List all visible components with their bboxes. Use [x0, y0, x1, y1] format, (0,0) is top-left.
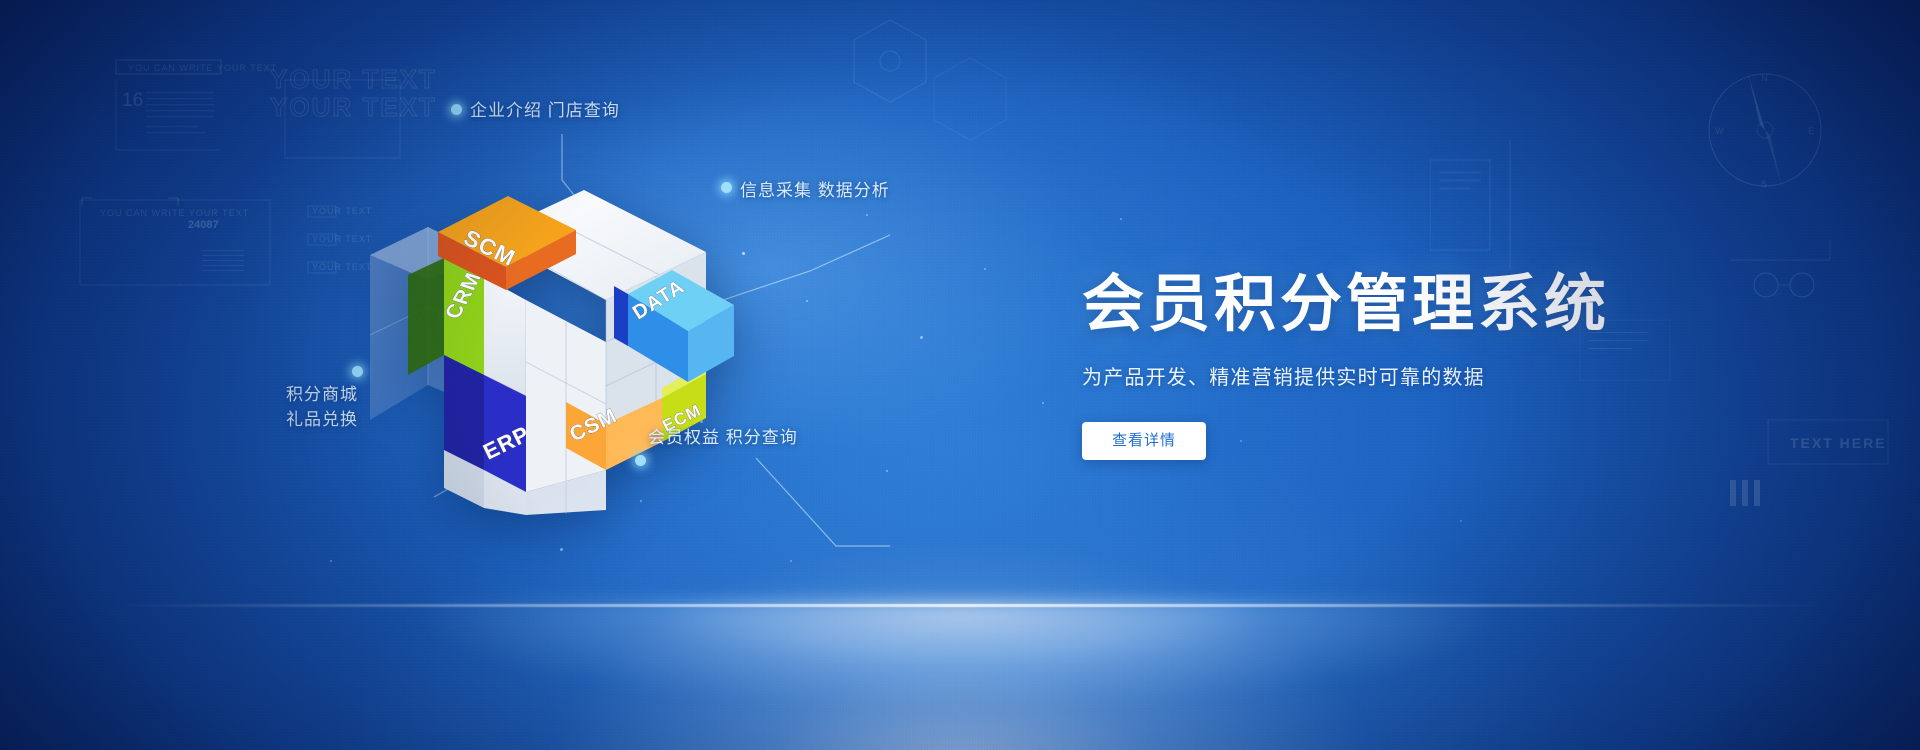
hud-number-24087: 24087	[188, 219, 219, 231]
callout-top: 企业介绍 门店查询	[470, 96, 620, 121]
hud-bigtext-1: YOUR TEXT	[270, 66, 437, 94]
hud-text-3: YOUR TEXT	[312, 206, 372, 216]
page-subtitle: 为产品开发、精准营销提供实时可靠的数据	[1082, 361, 1602, 390]
hud-text-2: YOU CAN WRITE YOUR TEXT	[100, 208, 249, 218]
callout-dot-right	[721, 182, 732, 193]
callout-right: 信息采集 数据分析	[740, 176, 890, 201]
callout-left: 积分商城 礼品兑换	[286, 383, 358, 432]
ground-glow	[200, 600, 1720, 750]
rubik-cube-illustration: CRM ERP	[366, 170, 736, 515]
hud-decor-hexagons	[830, 10, 1130, 180]
hud-text-here: TEXT HERE	[1790, 435, 1887, 451]
callout-bottom: 会员权益 积分查询	[648, 423, 798, 448]
compass-s: S	[1761, 179, 1768, 189]
callout-dot-bottom	[635, 455, 646, 466]
hud-text-4: YOUR TEXT	[312, 234, 372, 244]
callout-left-line2: 礼品兑换	[286, 408, 358, 433]
ground-line	[0, 604, 1920, 607]
callout-dot-left	[352, 366, 363, 377]
hud-bigtext-2: YOUR TEXT	[270, 92, 437, 122]
compass-e: E	[1808, 126, 1815, 136]
view-details-button[interactable]: 查看详情	[1082, 422, 1206, 460]
compass-icon: N E S W	[1690, 55, 1840, 205]
hud-decor-left-wide-text: YOUR TEXT YOUR TEXT	[270, 66, 490, 126]
compass-n: N	[1761, 73, 1769, 83]
callout-left-line1: 积分商城	[286, 383, 358, 408]
hero-banner: YOU CAN WRITE YOUR TEXT 16 YOU CAN WRITE…	[0, 0, 1920, 750]
callout-dot-top	[451, 104, 462, 115]
compass-w: W	[1715, 126, 1725, 136]
page-title: 会员积分管理系统	[1082, 272, 1602, 339]
hud-text-1: YOU CAN WRITE YOUR TEXT	[128, 63, 277, 73]
hud-text-5: YOUR TEXT	[312, 262, 372, 272]
hero-copy: 会员积分管理系统 为产品开发、精准营销提供实时可靠的数据 查看详情	[1082, 272, 1602, 460]
connector-bottom	[740, 450, 930, 570]
hud-number-16: 16	[122, 90, 143, 111]
